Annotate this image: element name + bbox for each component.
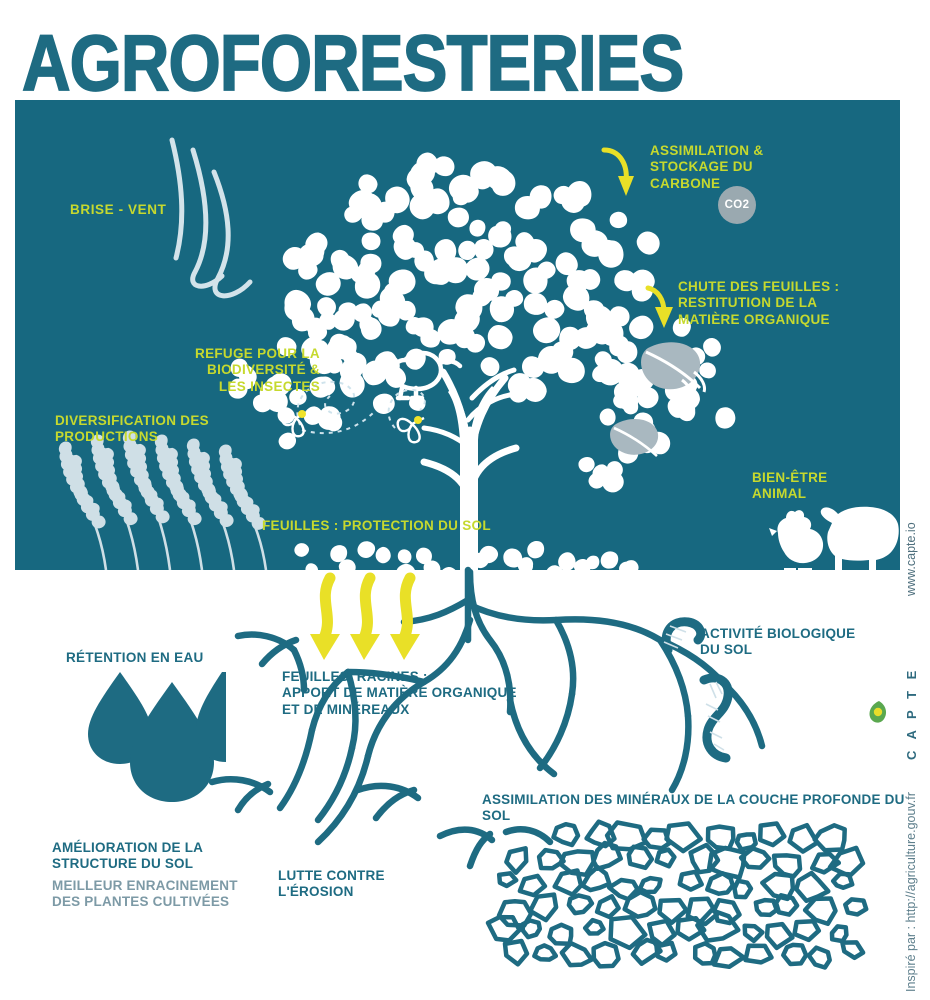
water-drop-icon [88, 672, 226, 802]
rocks-icon [488, 822, 866, 968]
label-feuilles-protection: FEUILLES : PROTECTION DU SOL [262, 518, 491, 534]
label-chute-des-feuilles: CHUTE DES FEUILLES : RESTITUTION DE LA M… [678, 279, 839, 328]
label-brise-vent: BRISE - VENT [70, 202, 166, 218]
label-bien-etre-animal: BIEN-ÊTRE ANIMAL [752, 470, 827, 503]
label-amelioration-structure: AMÉLIORATION DE LA STRUCTURE DU SOL [52, 840, 203, 873]
label-lutte-erosion: LUTTE CONTRE L'ÉROSION [278, 868, 385, 901]
arrow-down-icon [324, 578, 410, 638]
arrow-down-icon [390, 634, 420, 660]
label-retention-eau: RÉTENTION EN EAU [66, 650, 204, 666]
capte-leaf-logo-icon [869, 700, 889, 724]
infographic-canvas: AGROFORESTERIES [0, 0, 930, 1000]
label-activite-biologique: ACTIVITÉ BIOLOGIQUE DU SOL [700, 626, 855, 659]
source-credit[interactable]: Inspiré par : http://agriculture.gouv.fr [904, 792, 918, 992]
label-meilleur-enracinement: MEILLEUR ENRACINEMENT DES PLANTES CULTIV… [52, 878, 238, 911]
label-diversification: DIVERSIFICATION DES PRODUCTIONS [55, 413, 209, 446]
website-credit[interactable]: www.capte.io [904, 522, 918, 596]
brand-name: C A P T E [904, 667, 919, 760]
co2-badge: CO2 [718, 186, 756, 224]
arrow-down-icon [310, 634, 340, 660]
label-assimilation-mineraux: ASSIMILATION DES MINÉRAUX DE LA COUCHE P… [482, 792, 930, 825]
label-refuge-biodiversite: REFUGE POUR LA BIODIVERSITÉ & LES INSECT… [180, 346, 320, 395]
arrow-down-icon [350, 634, 380, 660]
label-assimilation-carbone: ASSIMILATION & STOCKAGE DU CARBONE [650, 143, 763, 192]
label-feuilles-racines: FEUILLES, RACINES : APPORT DE MATIÈRE OR… [282, 669, 517, 718]
